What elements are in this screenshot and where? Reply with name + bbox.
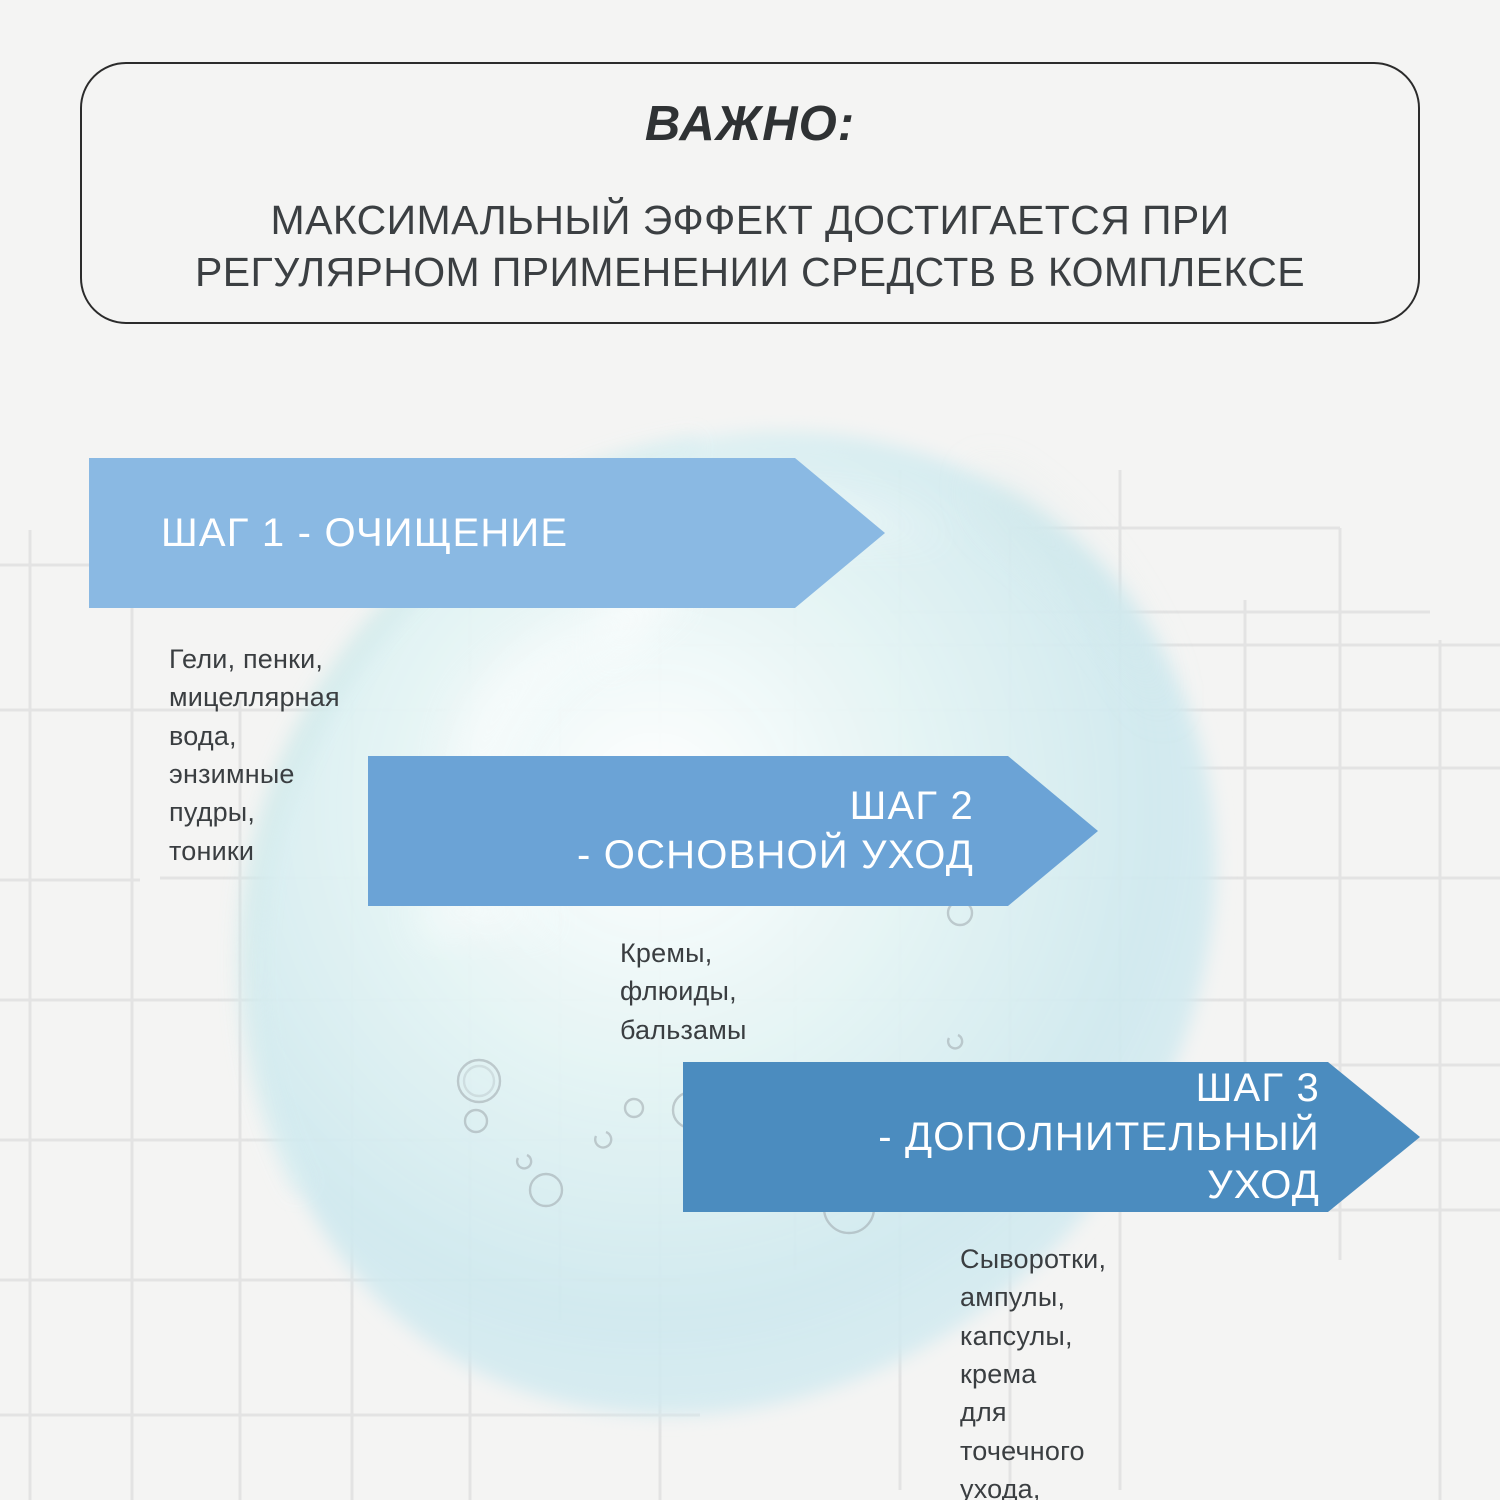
arrow-tip-icon <box>795 458 885 608</box>
step-2-arrow-banner[interactable]: ШАГ 2 - ОСНОВНОЙ УХОД <box>368 756 1008 906</box>
step-3-arrow-banner[interactable]: ШАГ 3 - ДОПОЛНИТЕЛЬНЫЙ УХОД <box>683 1062 1328 1212</box>
step-1-caption: Гели, пенки, мицеллярная вода, энзимные … <box>169 640 340 870</box>
step-2-caption: Кремы, флюиды, бальзамы <box>620 934 747 1049</box>
step-3-label: ШАГ 3 - ДОПОЛНИТЕЛЬНЫЙ УХОД <box>878 1064 1320 1210</box>
arrow-tip-icon <box>1328 1062 1420 1212</box>
arrow-tip-icon <box>1008 756 1098 906</box>
important-notice-box: ВАЖНО: МАКСИМАЛЬНЫЙ ЭФФЕКТ ДОСТИГАЕТСЯ П… <box>80 62 1420 324</box>
notice-title: ВАЖНО: <box>645 98 855 152</box>
step-3-caption: Сыворотки, ампулы, капсулы, крема для то… <box>960 1240 1106 1500</box>
infographic-page: ВАЖНО: МАКСИМАЛЬНЫЙ ЭФФЕКТ ДОСТИГАЕТСЯ П… <box>0 0 1500 1500</box>
step-1-arrow-banner[interactable]: ШАГ 1 - ОЧИЩЕНИЕ <box>89 458 795 608</box>
step-1-label: ШАГ 1 - ОЧИЩЕНИЕ <box>161 509 568 558</box>
notice-body: МАКСИМАЛЬНЫЙ ЭФФЕКТ ДОСТИГАЕТСЯ ПРИ РЕГУ… <box>135 194 1365 299</box>
step-2-label: ШАГ 2 - ОСНОВНОЙ УХОД <box>577 782 974 880</box>
